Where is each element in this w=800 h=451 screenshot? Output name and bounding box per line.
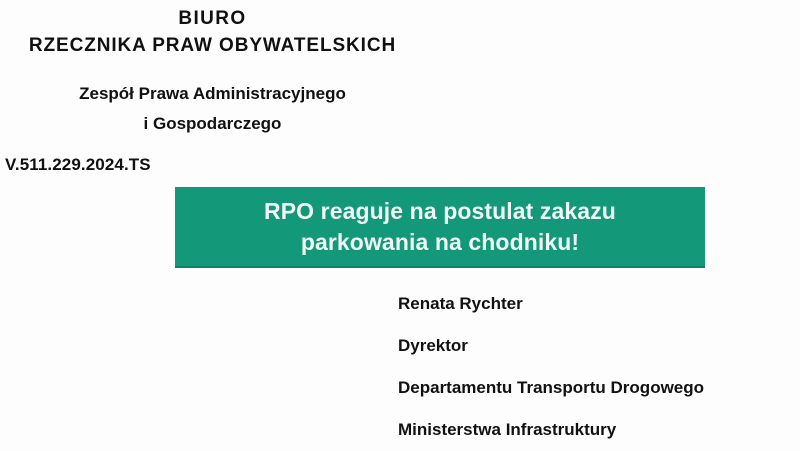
recipient-block: Renata Rychter Dyrektor Departamentu Tra…: [398, 283, 704, 451]
office-name-line-2: RZECZNIKA PRAW OBYWATELSKICH: [0, 32, 425, 59]
recipient-ministry: Ministerstwa Infrastruktury: [398, 409, 704, 451]
case-reference-number: V.511.229.2024.TS: [5, 155, 151, 175]
document-page: BIURO RZECZNIKA PRAW OBYWATELSKICH Zespó…: [0, 0, 800, 450]
letterhead: BIURO RZECZNIKA PRAW OBYWATELSKICH Zespó…: [0, 6, 425, 139]
team-name-line-2: i Gospodarczego: [0, 109, 425, 139]
team-name-block: Zespół Prawa Administracyjnego i Gospoda…: [0, 79, 425, 139]
recipient-name: Renata Rychter: [398, 283, 704, 325]
team-name-line-1: Zespół Prawa Administracyjnego: [0, 79, 425, 109]
headline-banner-line-2: parkowania na chodniku!: [301, 227, 579, 258]
recipient-title: Dyrektor: [398, 325, 704, 367]
headline-banner-line-1: RPO reaguje na postulat zakazu: [264, 196, 616, 227]
headline-banner: RPO reaguje na postulat zakazu parkowani…: [175, 187, 705, 268]
recipient-department: Departamentu Transportu Drogowego: [398, 367, 704, 409]
office-name-line-1: BIURO: [0, 6, 425, 32]
